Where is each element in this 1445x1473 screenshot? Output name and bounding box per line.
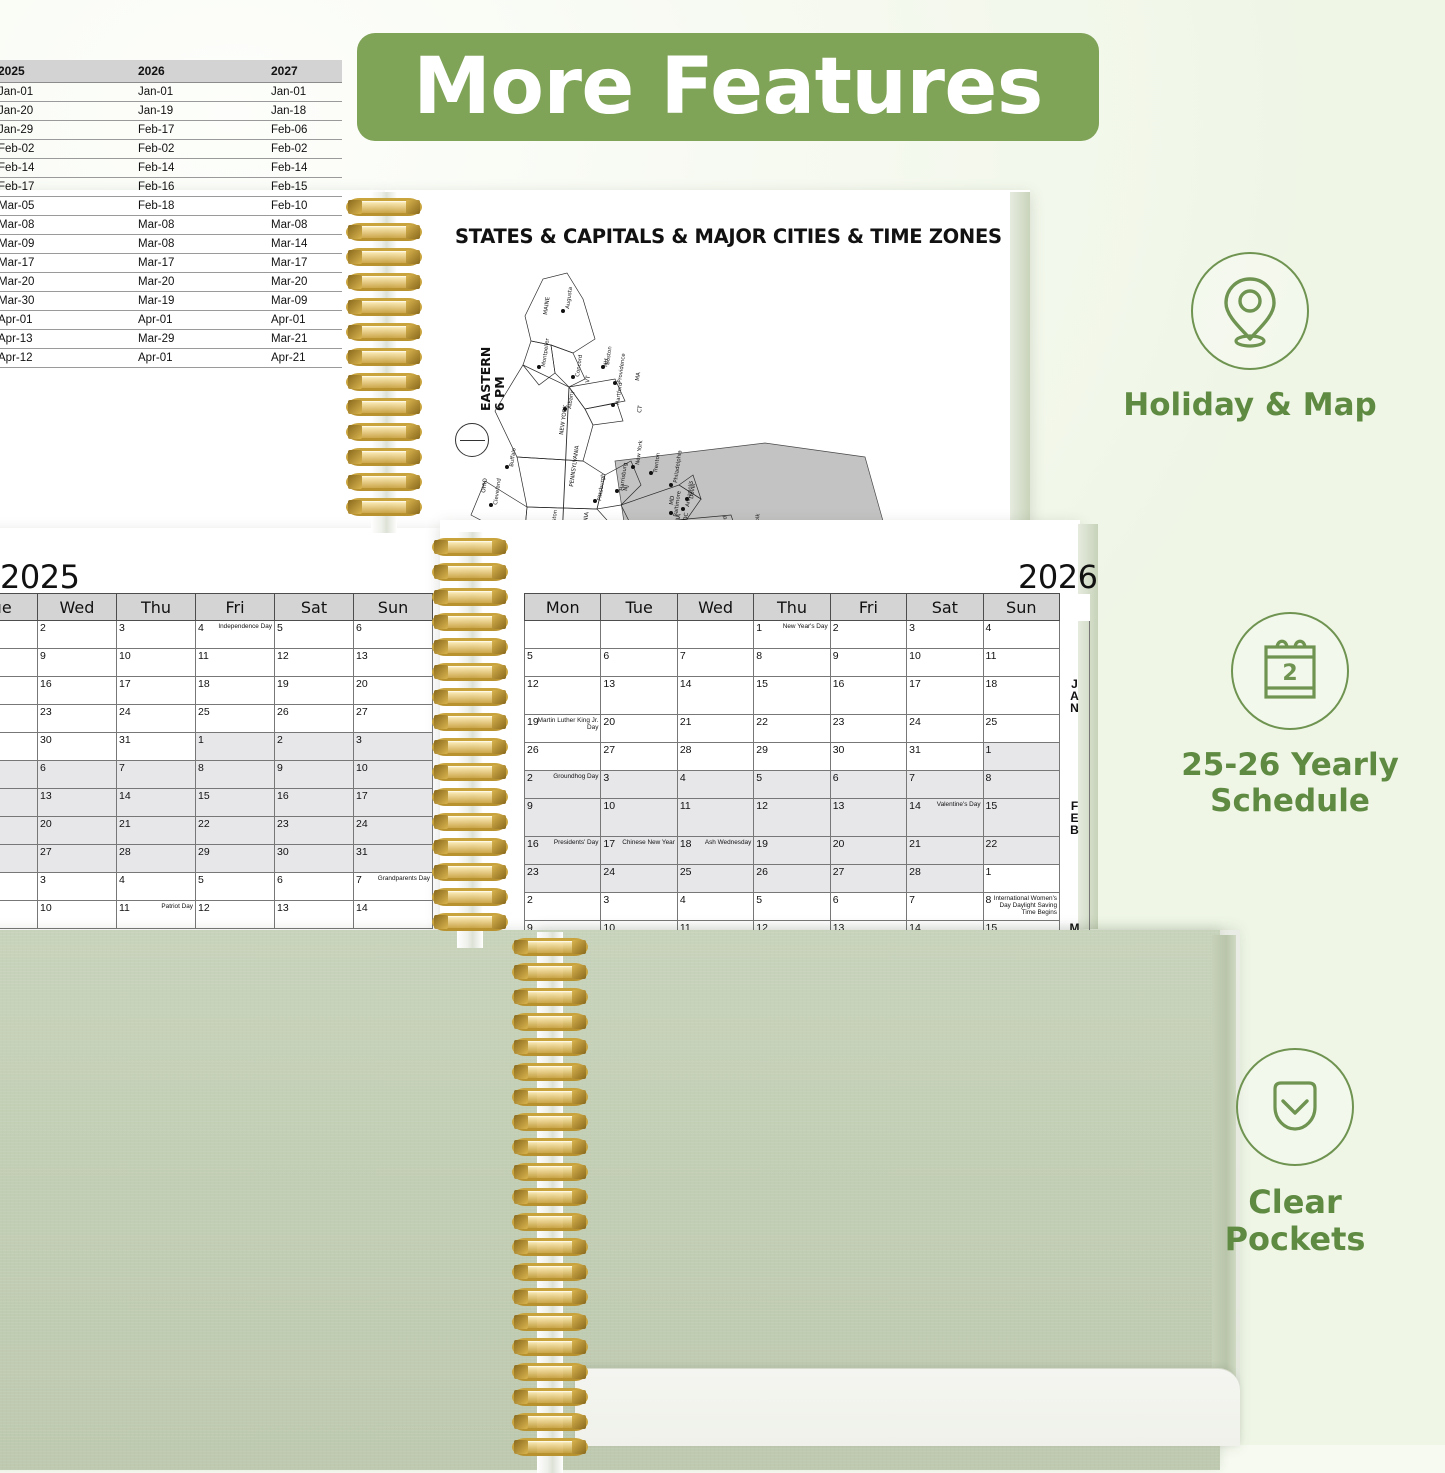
calendar-day-cell[interactable]: 10 xyxy=(907,649,983,677)
day-number: 16 xyxy=(40,678,52,690)
spiral-coil xyxy=(512,1288,588,1308)
calendar-week-row: 2Groundhog Day345678 xyxy=(525,771,1090,799)
calendar-day-cell[interactable]: 2 xyxy=(275,733,354,761)
calendar-day-cell[interactable]: 22 xyxy=(983,837,1059,865)
day-number: 7 xyxy=(909,772,915,784)
calendar-day-cell[interactable]: 22 xyxy=(754,715,830,743)
day-number: 4 xyxy=(680,772,686,784)
calendar-day-cell[interactable]: 23 xyxy=(38,705,117,733)
holiday-label: Valentine's Day xyxy=(937,801,981,808)
calendar-badge-number: 2 xyxy=(1282,661,1297,686)
day-number: 16 xyxy=(833,678,845,690)
day-number: 12 xyxy=(277,650,289,662)
calendar-day-cell[interactable]: 13 xyxy=(354,649,433,677)
calendar-day-cell[interactable]: 4 xyxy=(677,771,753,799)
day-number: 4 xyxy=(119,874,125,886)
calendar-day-cell[interactable]: 7 xyxy=(677,649,753,677)
calendar-day-cell[interactable]: 26 xyxy=(754,865,830,893)
calendar-day-cell[interactable]: 4 xyxy=(983,621,1059,649)
column-header-2026: 2026 xyxy=(118,60,237,83)
day-number: 4 xyxy=(680,894,686,906)
spiral-coil xyxy=(346,223,422,243)
day-number: 15 xyxy=(986,800,998,812)
calendar-day-cell[interactable]: 1 xyxy=(983,743,1059,771)
feature-clear-pockets: Clear Pockets xyxy=(1145,1048,1445,1258)
calendar-week-row: 567891011 xyxy=(525,649,1090,677)
day-number: 13 xyxy=(603,678,615,690)
spiral-coil xyxy=(512,938,588,958)
calendar-day-cell[interactable]: 6 xyxy=(601,649,677,677)
calendar-day-cell[interactable]: 11 xyxy=(196,649,275,677)
spiral-coil xyxy=(346,323,422,343)
calendar-day-cell[interactable]: 17 xyxy=(117,677,196,705)
feature-label-line2: Pockets xyxy=(1145,1221,1445,1258)
day-number: 30 xyxy=(277,846,289,858)
spiral-coil xyxy=(512,1088,588,1108)
day-number: 10 xyxy=(356,762,368,774)
calendar-day-cell[interactable] xyxy=(0,649,38,677)
table-cell: Mar-08 xyxy=(237,216,342,235)
calendar-week-row: 16Presidents' Day17Chinese New Year18Ash… xyxy=(525,837,1090,865)
calendar-day-cell[interactable]: 21 xyxy=(907,837,983,865)
calendar-day-cell[interactable]: 30 xyxy=(830,743,906,771)
day-number: 1 xyxy=(756,622,762,634)
day-number: 27 xyxy=(833,866,845,878)
calendar-day-cell[interactable]: 14 xyxy=(117,789,196,817)
calendar-2025-grid: TueWedThuFriSatSun234Independence Day569… xyxy=(0,593,433,938)
spiral-coil xyxy=(512,1338,588,1358)
calendar-week-row: 1New Year's Day234 xyxy=(525,621,1090,649)
table-cell: Feb-02 xyxy=(237,140,342,159)
spiral-coil xyxy=(512,1263,588,1283)
spiral-coil xyxy=(346,198,422,218)
table-cell: Mar-17 xyxy=(237,254,342,273)
table-cell: Mar-20 xyxy=(0,273,118,292)
calendar-day-cell[interactable]: 7Grandparents Day xyxy=(354,873,433,901)
table-cell: Jan-29 xyxy=(0,121,118,140)
calendar-day-cell[interactable]: 6 xyxy=(830,771,906,799)
day-number: 20 xyxy=(833,838,845,850)
calendar-day-cell[interactable]: 13 xyxy=(275,901,354,929)
day-number: 21 xyxy=(680,716,692,728)
calendar-day-cell[interactable]: 13 xyxy=(601,677,677,715)
calendar-day-cell[interactable]: 3 xyxy=(117,621,196,649)
month-tab-cell: JAN xyxy=(1060,677,1090,715)
calendar-day-cell[interactable]: 9 xyxy=(275,761,354,789)
day-number: 27 xyxy=(356,706,368,718)
table-cell: Mar-08 xyxy=(0,216,118,235)
calendar-week-row: 910111213 xyxy=(0,649,433,677)
table-row: Apr-12Apr-01Apr-21 xyxy=(0,349,342,368)
calendar-day-cell[interactable]: 16 xyxy=(830,677,906,715)
table-row: Jan-29Feb-17Feb-06 xyxy=(0,121,342,140)
spiral-coil xyxy=(432,538,508,558)
day-number: 2 xyxy=(527,894,533,906)
calendar-day-cell[interactable]: 5 xyxy=(275,621,354,649)
day-number: 7 xyxy=(909,894,915,906)
svg-text:Boston: Boston xyxy=(605,346,614,365)
spiral-coil xyxy=(432,688,508,708)
day-number: 10 xyxy=(909,650,921,662)
calendar-day-cell[interactable]: 19Martin Luther King Jr. Day xyxy=(525,715,601,743)
calendar-day-cell[interactable]: 11 xyxy=(983,649,1059,677)
calendar-day-cell[interactable]: 26 xyxy=(275,705,354,733)
calendar-day-cell[interactable]: 10 xyxy=(117,649,196,677)
table-cell: Jan-01 xyxy=(0,83,118,102)
day-number: 13 xyxy=(277,902,289,914)
day-number: 25 xyxy=(986,716,998,728)
day-number: 3 xyxy=(356,734,362,746)
weekday-header: Sun xyxy=(983,594,1059,621)
calendar-day-cell[interactable]: 23 xyxy=(275,817,354,845)
table-cell: Mar-09 xyxy=(237,292,342,311)
spiral-coil xyxy=(346,423,422,443)
day-number: 20 xyxy=(40,818,52,830)
table-cell: Apr-12 xyxy=(0,349,118,368)
calendar-day-cell[interactable]: 2 xyxy=(38,621,117,649)
day-number: 2 xyxy=(527,772,533,784)
day-number: 20 xyxy=(603,716,615,728)
calendar-day-cell[interactable]: 22 xyxy=(196,817,275,845)
holiday-dates-table: 2025 2026 2027 Jan-01Jan-01Jan-01Jan-20J… xyxy=(0,60,342,368)
timezone-label: EASTERN 6 PM xyxy=(479,347,506,411)
calendar-day-cell[interactable]: 2 xyxy=(525,893,601,921)
calendar-day-cell[interactable]: 13 xyxy=(830,799,906,837)
calendar-week-row: 1617181920 xyxy=(0,677,433,705)
table-cell: Jan-20 xyxy=(0,102,118,121)
calendar-day-cell[interactable]: 7 xyxy=(907,771,983,799)
calendar-day-cell[interactable]: 24 xyxy=(601,865,677,893)
spiral-coil xyxy=(346,298,422,318)
calendar-day-cell[interactable]: 21 xyxy=(677,715,753,743)
calendar-day-cell[interactable] xyxy=(0,733,38,761)
table-cell: Feb-10 xyxy=(237,197,342,216)
day-number: 30 xyxy=(40,734,52,746)
svg-text:MA: MA xyxy=(635,372,642,382)
calendar-day-cell[interactable]: 17 xyxy=(907,677,983,715)
day-number: 14 xyxy=(119,790,131,802)
calendar-day-cell[interactable]: 16Presidents' Day xyxy=(525,837,601,865)
calendar-day-cell[interactable]: 23 xyxy=(525,865,601,893)
weekday-header: Wed xyxy=(677,594,753,621)
calendar-day-cell[interactable]: 3 xyxy=(601,893,677,921)
day-number: 26 xyxy=(756,866,768,878)
table-cell: Feb-06 xyxy=(237,121,342,140)
weekday-header: Mon xyxy=(525,594,601,621)
calendar-day-cell[interactable]: 6 xyxy=(830,893,906,921)
feature-yearly-schedule: 2 25-26 Yearly Schedule xyxy=(1140,612,1440,819)
calendar-day-cell[interactable]: 28 xyxy=(117,845,196,873)
calendar-day-cell[interactable]: 11 xyxy=(677,799,753,837)
calendar-day-cell[interactable] xyxy=(601,621,677,649)
spiral-coil xyxy=(512,1038,588,1058)
calendar-day-cell[interactable]: 24 xyxy=(907,715,983,743)
month-tab-cell xyxy=(1060,837,1090,865)
calendar-day-cell[interactable]: 15 xyxy=(196,789,275,817)
calendar-day-cell[interactable]: 4 xyxy=(117,873,196,901)
day-number: 6 xyxy=(277,874,283,886)
calendar-icon: 2 xyxy=(1257,635,1323,707)
calendar-day-cell[interactable]: 6 xyxy=(354,621,433,649)
table-cell: Feb-02 xyxy=(0,140,118,159)
calendar-day-cell[interactable]: 18Ash Wednesday xyxy=(677,837,753,865)
calendar-day-cell[interactable]: 13 xyxy=(38,789,117,817)
calendar-day-cell[interactable]: 8 xyxy=(196,761,275,789)
day-number: 17 xyxy=(356,790,368,802)
calendar-day-cell[interactable]: 25 xyxy=(983,715,1059,743)
table-cell: Mar-21 xyxy=(237,330,342,349)
table-row: Apr-13Mar-29Mar-21 xyxy=(0,330,342,349)
calendar-day-cell[interactable]: 5 xyxy=(754,893,830,921)
calendar-week-row: 1011Patriot Day121314 xyxy=(0,901,433,929)
calendar-day-cell[interactable]: 1New Year's Day xyxy=(754,621,830,649)
holiday-label: New Year's Day xyxy=(783,623,828,630)
calendar-day-cell[interactable]: 7 xyxy=(117,761,196,789)
day-number: 18 xyxy=(986,678,998,690)
day-number: 5 xyxy=(277,622,283,634)
table-row: Mar-17Mar-17Mar-17 xyxy=(0,254,342,273)
timezone-name: EASTERN xyxy=(479,347,493,411)
calendar-day-cell[interactable]: 16 xyxy=(275,789,354,817)
calendar-day-cell[interactable]: 24 xyxy=(354,817,433,845)
day-number: 11 xyxy=(986,650,997,662)
calendar-day-cell[interactable] xyxy=(0,761,38,789)
calendar-day-cell[interactable]: 24 xyxy=(117,705,196,733)
calendar-day-cell[interactable]: 23 xyxy=(830,715,906,743)
calendar-day-cell[interactable] xyxy=(0,873,38,901)
day-number: 23 xyxy=(527,866,539,878)
calendar-week-row: 91011121314Valentine's Day15FEB xyxy=(525,799,1090,837)
calendar-day-cell[interactable]: 30 xyxy=(38,733,117,761)
day-number: 29 xyxy=(756,744,768,756)
calendar-day-cell[interactable]: 5 xyxy=(754,771,830,799)
calendar-day-cell[interactable]: 1 xyxy=(983,865,1059,893)
svg-text:Augusta: Augusta xyxy=(565,286,574,309)
table-cell: Mar-19 xyxy=(118,292,237,311)
month-tab-cell xyxy=(1060,743,1090,771)
calendar-day-cell[interactable] xyxy=(0,789,38,817)
day-number: 13 xyxy=(356,650,368,662)
calendar-day-cell[interactable]: 10 xyxy=(38,901,117,929)
calendar-day-cell[interactable]: 31 xyxy=(117,733,196,761)
calendar-day-cell[interactable]: 1 xyxy=(196,733,275,761)
table-cell: Feb-17 xyxy=(0,178,118,197)
calendar-day-cell[interactable]: 27 xyxy=(601,743,677,771)
map-pin-icon xyxy=(1218,273,1282,349)
calendar-day-cell[interactable]: 10 xyxy=(354,761,433,789)
calendar-day-cell[interactable]: 25 xyxy=(677,865,753,893)
calendar-day-cell[interactable]: 14Valentine's Day xyxy=(907,799,983,837)
month-tab-cell xyxy=(1060,621,1090,649)
calendar-day-cell[interactable] xyxy=(0,621,38,649)
calendar-day-cell[interactable] xyxy=(525,621,601,649)
calendar-day-cell[interactable]: 2 xyxy=(830,621,906,649)
calendar-day-cell[interactable]: 21 xyxy=(117,817,196,845)
calendar-day-cell[interactable]: 31 xyxy=(907,743,983,771)
table-cell: Feb-18 xyxy=(118,197,237,216)
calendar-day-cell[interactable]: 3 xyxy=(354,733,433,761)
title-banner: More Features xyxy=(357,33,1099,141)
day-number: 8 xyxy=(986,772,992,784)
table-cell: Apr-01 xyxy=(118,349,237,368)
calendar-day-cell[interactable]: 31 xyxy=(354,845,433,873)
calendar-day-cell[interactable]: 10 xyxy=(601,799,677,837)
calendar-day-cell[interactable] xyxy=(0,817,38,845)
table-row: Apr-01Apr-01Apr-01 xyxy=(0,311,342,330)
calendar-day-cell[interactable]: 4 xyxy=(677,893,753,921)
day-number: 6 xyxy=(40,762,46,774)
day-number: 3 xyxy=(603,894,609,906)
calendar-day-cell[interactable]: 16 xyxy=(38,677,117,705)
table-cell: Mar-17 xyxy=(0,254,118,273)
calendar-day-cell[interactable]: 8 xyxy=(983,771,1059,799)
spiral-coil xyxy=(512,1313,588,1333)
spiral-coil xyxy=(346,398,422,418)
calendar-day-cell[interactable]: 17 xyxy=(354,789,433,817)
feature-holiday-map: Holiday & Map xyxy=(1100,252,1400,424)
table-cell: Feb-14 xyxy=(0,159,118,178)
day-number: 11 xyxy=(198,650,209,662)
holiday-label: Martin Luther King Jr. Day xyxy=(526,717,598,731)
svg-text:Albany: Albany xyxy=(567,389,576,409)
calendar-day-cell[interactable]: 19 xyxy=(275,677,354,705)
calendar-week-row: 2021222324 xyxy=(0,817,433,845)
spiral-coil xyxy=(432,888,508,908)
month-tab-label: JAN xyxy=(1070,677,1079,715)
calendar-day-cell[interactable]: 28 xyxy=(677,743,753,771)
calendar-day-cell[interactable]: 17Chinese New Year xyxy=(601,837,677,865)
calendar-day-cell[interactable]: 29 xyxy=(196,845,275,873)
calendar-day-cell[interactable]: 15 xyxy=(983,799,1059,837)
table-row: Mar-05Feb-18Feb-10 xyxy=(0,197,342,216)
day-number: 31 xyxy=(909,744,921,756)
calendar-day-cell[interactable]: 8International Women's Day Daylight Savi… xyxy=(983,893,1059,921)
calendar-day-cell[interactable]: 11Patriot Day xyxy=(117,901,196,929)
calendar-day-cell[interactable]: 30 xyxy=(275,845,354,873)
calendar-day-cell[interactable]: 12 xyxy=(275,649,354,677)
feature-label: Clear Pockets xyxy=(1145,1184,1445,1258)
calendar-day-cell[interactable]: 27 xyxy=(38,845,117,873)
day-number: 3 xyxy=(119,622,125,634)
table-row: Feb-17Feb-16Feb-15 xyxy=(0,178,342,197)
calendar-day-cell[interactable]: 7 xyxy=(907,893,983,921)
calendar-day-cell[interactable] xyxy=(677,621,753,649)
day-number: 25 xyxy=(680,866,692,878)
day-number: 10 xyxy=(119,650,131,662)
svg-text:CT: CT xyxy=(637,405,644,414)
day-number: 26 xyxy=(527,744,539,756)
calendar-day-cell[interactable]: 20 xyxy=(830,837,906,865)
day-number: 27 xyxy=(603,744,615,756)
calendar-day-cell[interactable]: 8 xyxy=(754,649,830,677)
month-tab-header xyxy=(1060,594,1090,621)
weekday-header: Thu xyxy=(754,594,830,621)
calendar-day-cell[interactable]: 29 xyxy=(754,743,830,771)
holiday-label: International Women's Day Daylight Savin… xyxy=(985,895,1057,916)
calendar-day-cell[interactable]: 6 xyxy=(38,761,117,789)
calendar-day-cell[interactable]: 14 xyxy=(677,677,753,715)
feature-label-line1: Clear xyxy=(1145,1184,1445,1221)
calendar-day-cell[interactable]: 2Groundhog Day xyxy=(525,771,601,799)
calendar-day-cell[interactable]: 18 xyxy=(196,677,275,705)
calendar-day-cell[interactable]: 27 xyxy=(830,865,906,893)
table-cell: Apr-21 xyxy=(237,349,342,368)
day-number: 19 xyxy=(756,838,768,850)
calendar-day-cell[interactable]: 15 xyxy=(754,677,830,715)
calendar-day-cell[interactable]: 28 xyxy=(907,865,983,893)
calendar-day-cell[interactable] xyxy=(0,845,38,873)
calendar-day-cell[interactable]: 9 xyxy=(830,649,906,677)
calendar-day-cell[interactable]: 12 xyxy=(525,677,601,715)
table-cell: Feb-15 xyxy=(237,178,342,197)
calendar-day-cell[interactable]: 6 xyxy=(275,873,354,901)
spiral-coil xyxy=(346,498,422,518)
day-number: 18 xyxy=(680,838,692,850)
day-number: 15 xyxy=(198,790,210,802)
table-cell: Apr-01 xyxy=(237,311,342,330)
spiral-coil xyxy=(432,738,508,758)
calendar-day-cell[interactable]: 9 xyxy=(38,649,117,677)
calendar-day-cell[interactable]: 27 xyxy=(354,705,433,733)
calendar-day-cell[interactable]: 12 xyxy=(754,799,830,837)
calendar-day-cell[interactable]: 3 xyxy=(907,621,983,649)
weekday-header: Sun xyxy=(354,594,433,621)
day-number: 24 xyxy=(356,818,368,830)
holiday-label: Presidents' Day xyxy=(554,839,599,846)
svg-text:VT: VT xyxy=(585,375,592,384)
day-number: 21 xyxy=(119,818,131,830)
calendar-day-cell[interactable]: 25 xyxy=(196,705,275,733)
calendar-day-cell[interactable]: 9 xyxy=(525,799,601,837)
month-tab-cell xyxy=(1060,771,1090,799)
month-tab-cell xyxy=(1060,893,1090,921)
weekday-header: Fri xyxy=(830,594,906,621)
calendar-day-cell[interactable]: 12 xyxy=(196,901,275,929)
spiral-coil xyxy=(512,1063,588,1083)
calendar-day-cell[interactable]: 19 xyxy=(754,837,830,865)
feature-icon-circle xyxy=(1236,1048,1354,1166)
calendar-day-cell[interactable]: 26 xyxy=(525,743,601,771)
spiral-coil xyxy=(432,613,508,633)
calendar-day-cell[interactable]: 20 xyxy=(601,715,677,743)
calendar-day-cell[interactable]: 20 xyxy=(38,817,117,845)
day-number: 7 xyxy=(356,874,362,886)
calendar-day-cell[interactable]: 14 xyxy=(354,901,433,929)
calendar-day-cell[interactable] xyxy=(0,705,38,733)
month-tab-cell xyxy=(1060,865,1090,893)
day-number: 1 xyxy=(198,734,204,746)
day-number: 7 xyxy=(119,762,125,774)
spiral-coil xyxy=(512,1138,588,1158)
feature-label-line1: 25-26 Yearly xyxy=(1140,748,1440,784)
calendar-day-cell[interactable]: 20 xyxy=(354,677,433,705)
table-cell: Mar-20 xyxy=(118,273,237,292)
calendar-day-cell[interactable] xyxy=(0,901,38,929)
calendar-day-cell[interactable]: 5 xyxy=(525,649,601,677)
day-number: 16 xyxy=(527,838,539,850)
calendar-day-cell[interactable]: 5 xyxy=(196,873,275,901)
table-row: Mar-08Mar-08Mar-08 xyxy=(0,216,342,235)
calendar-day-cell[interactable]: 18 xyxy=(983,677,1059,715)
calendar-day-cell[interactable]: 4Independence Day xyxy=(196,621,275,649)
day-number: 22 xyxy=(198,818,210,830)
column-header-2027: 2027 xyxy=(237,60,342,83)
calendar-day-cell[interactable] xyxy=(0,677,38,705)
day-number: 9 xyxy=(277,762,283,774)
day-number: 9 xyxy=(527,800,533,812)
calendar-day-cell[interactable]: 3 xyxy=(38,873,117,901)
calendar-day-cell[interactable]: 3 xyxy=(601,771,677,799)
